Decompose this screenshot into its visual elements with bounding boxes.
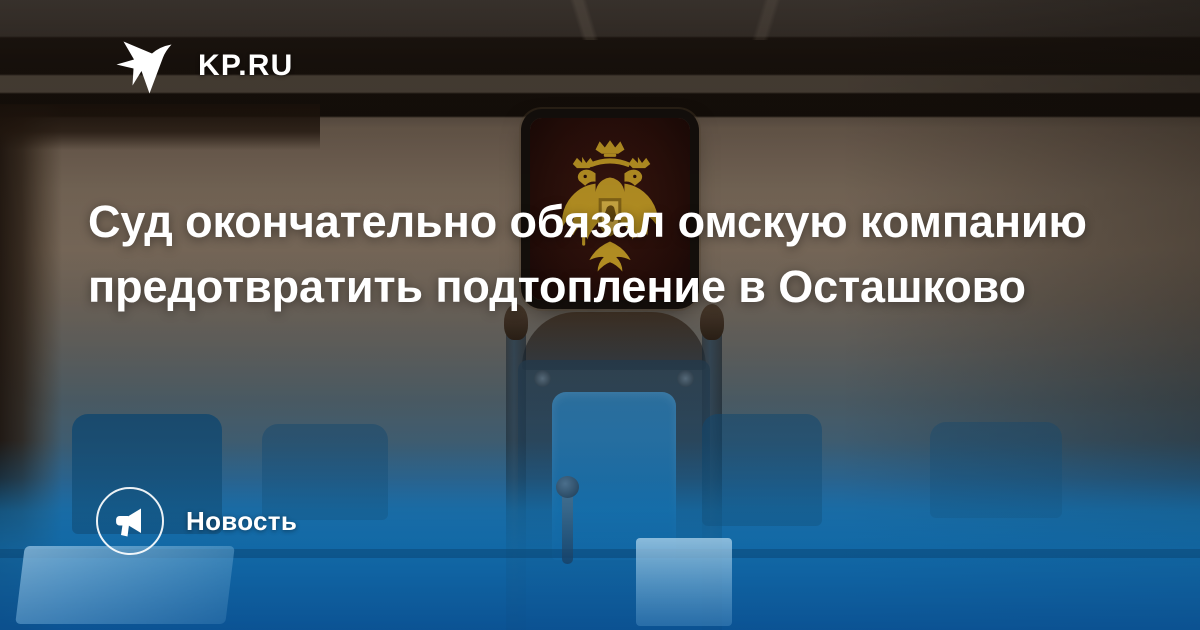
- status-badge: Новость: [96, 487, 297, 555]
- page-title: Суд окончательно обязал омскую компанию …: [88, 190, 1098, 320]
- swallow-bird-icon: [108, 33, 180, 99]
- megaphone-icon: [96, 487, 164, 555]
- card-content: KP.RU Суд окончательно обязал омскую ком…: [0, 0, 1200, 630]
- brand-logo[interactable]: KP.RU: [108, 33, 293, 99]
- article-share-card: KP.RU Суд окончательно обязал омскую ком…: [0, 0, 1200, 630]
- brand-name: KP.RU: [198, 51, 293, 81]
- badge-label: Новость: [186, 508, 297, 534]
